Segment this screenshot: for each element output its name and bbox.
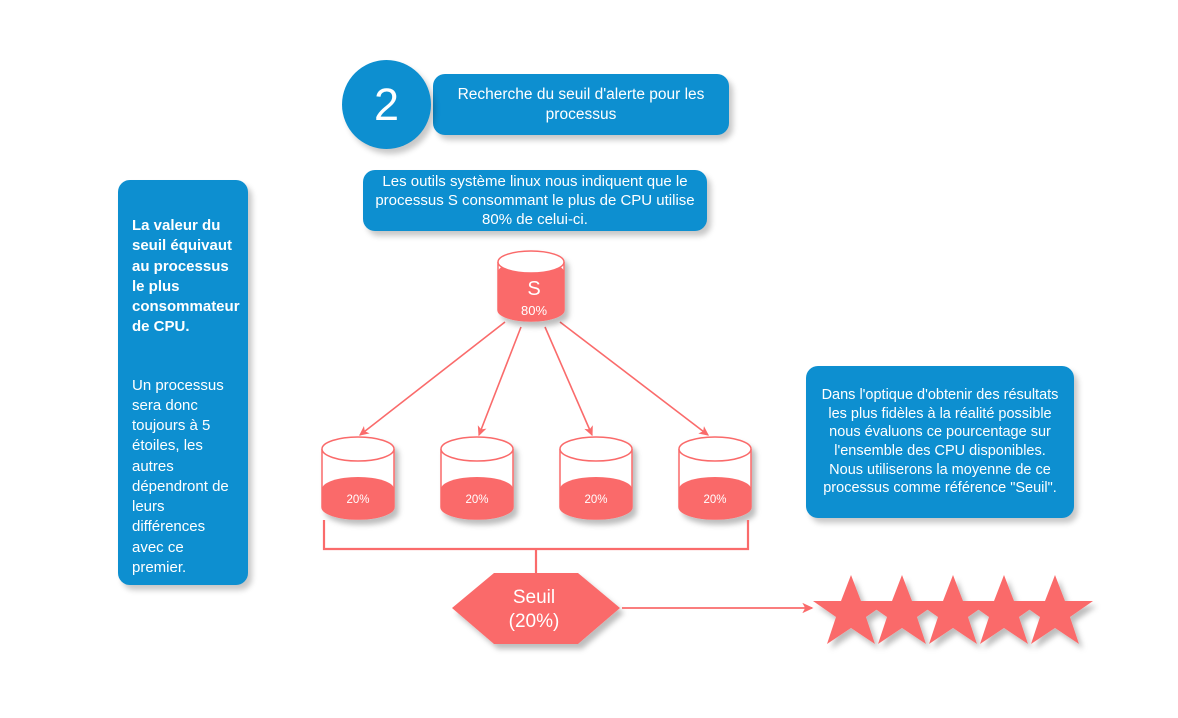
threshold-label: Seuil bbox=[455, 586, 613, 610]
step-title-box: Recherche du seuil d'alerte pour les pro… bbox=[433, 74, 729, 135]
arrow-to-cpu-2 bbox=[479, 327, 521, 435]
arrow-to-cpu-3 bbox=[545, 327, 592, 435]
cpu-cylinder-2 bbox=[441, 437, 513, 519]
note-top-text: Les outils système linux nous indiquent … bbox=[375, 172, 695, 230]
cpu-cylinder-3 bbox=[560, 437, 632, 519]
main-process-name: S bbox=[489, 278, 579, 301]
threshold-value: (20%) bbox=[455, 610, 613, 634]
arrow-to-cpu-4 bbox=[560, 322, 708, 435]
diagram-canvas: S 80% 20% 20% 20% 20% Seuil (20%) 2 Rech… bbox=[0, 0, 1178, 718]
cpu-cylinder-4-percent: 20% bbox=[679, 494, 751, 506]
note-left-bold-text: La valeur du seuil équivaut au processus… bbox=[132, 216, 240, 338]
threshold-hexagon bbox=[452, 573, 620, 644]
note-left-plain-text: Un processus sera donc toujours à 5 étoi… bbox=[132, 376, 234, 579]
cpu-cylinder-4 bbox=[679, 437, 751, 519]
main-process-cylinder bbox=[498, 251, 564, 321]
note-right-box: Dans l'optique d'obtenir des résultats l… bbox=[806, 366, 1074, 518]
arrow-to-cpu-1 bbox=[360, 322, 505, 435]
note-top-box: Les outils système linux nous indiquent … bbox=[363, 170, 707, 231]
cpu-cylinder-1-percent: 20% bbox=[322, 494, 394, 506]
step-number-badge: 2 bbox=[342, 60, 431, 149]
aggregation-bracket bbox=[324, 520, 748, 578]
step-title-text: Recherche du seuil d'alerte pour les pro… bbox=[447, 85, 715, 125]
cpu-cylinder-2-percent: 20% bbox=[441, 494, 513, 506]
star-2 bbox=[864, 575, 940, 644]
star-4 bbox=[966, 575, 1042, 644]
star-1 bbox=[813, 575, 889, 644]
cpu-cylinder-1 bbox=[322, 437, 394, 519]
star-3 bbox=[915, 575, 991, 644]
step-number: 2 bbox=[374, 79, 399, 131]
threshold-label-group: Seuil (20%) bbox=[455, 586, 613, 635]
star-5 bbox=[1017, 575, 1093, 644]
cpu-cylinder-3-percent: 20% bbox=[560, 494, 632, 506]
note-left-box: La valeur du seuil équivaut au processus… bbox=[118, 180, 248, 585]
rating-stars bbox=[813, 575, 1093, 644]
distribution-arrows bbox=[360, 322, 708, 435]
note-right-text: Dans l'optique d'obtenir des résultats l… bbox=[816, 386, 1064, 497]
main-process-percent: 80% bbox=[489, 303, 579, 318]
